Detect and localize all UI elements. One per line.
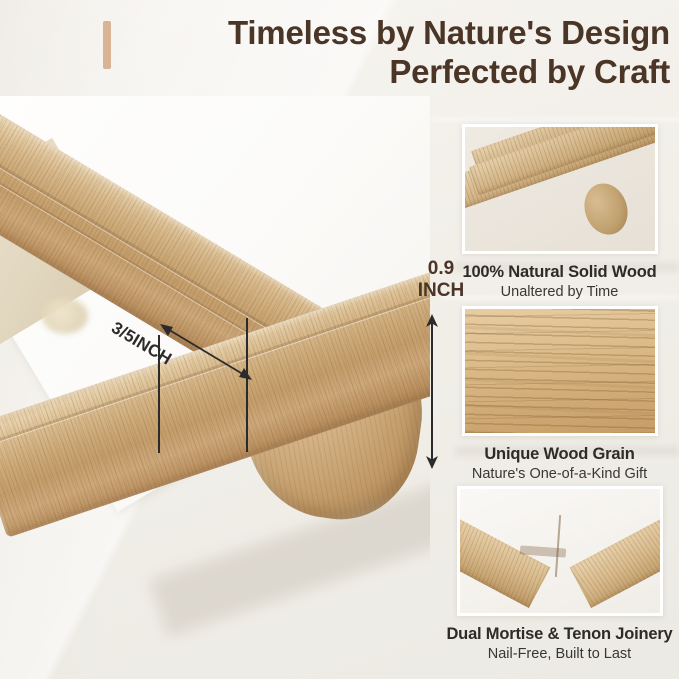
photo-content — [42, 298, 88, 334]
feature-unique-wood-grain: Unique Wood Grain Nature's One-of-a-Kind… — [440, 306, 679, 482]
feature-image-2 — [462, 306, 658, 436]
feature-title-2: Unique Wood Grain — [440, 445, 679, 464]
feature-title-3: Dual Mortise & Tenon Joinery — [440, 625, 679, 644]
feature-image-3 — [457, 486, 663, 616]
feature-subtitle-3: Nail-Free, Built to Last — [440, 646, 679, 662]
headline-line-2: Perfected by Craft — [96, 53, 670, 92]
accent-bar-icon — [103, 21, 111, 69]
feature-subtitle-2: Nature's One-of-a-Kind Gift — [440, 466, 679, 482]
headline-block: Timeless by Nature's Design Perfected by… — [96, 14, 670, 92]
main-frame-photo — [0, 96, 430, 679]
feature-natural-solid-wood: 100% Natural Solid Wood Unaltered by Tim… — [440, 124, 679, 300]
page-title: Timeless by Nature's Design Perfected by… — [96, 14, 670, 92]
feature-subtitle-1: Unaltered by Time — [440, 284, 679, 300]
feature-title-1: 100% Natural Solid Wood — [440, 263, 679, 282]
wood-grain-texture — [465, 309, 655, 433]
arrow-down-icon — [425, 455, 439, 469]
background-streak — [430, 118, 679, 121]
headline-line-1: Timeless by Nature's Design — [228, 14, 670, 51]
infographic-canvas: Timeless by Nature's Design Perfected by… — [0, 0, 679, 679]
arrow-up-icon — [425, 314, 439, 328]
feature-image-1 — [462, 124, 658, 254]
feature-mortise-tenon-joinery: Dual Mortise & Tenon Joinery Nail-Free, … — [440, 486, 679, 662]
dimension-guide-line — [431, 318, 433, 466]
